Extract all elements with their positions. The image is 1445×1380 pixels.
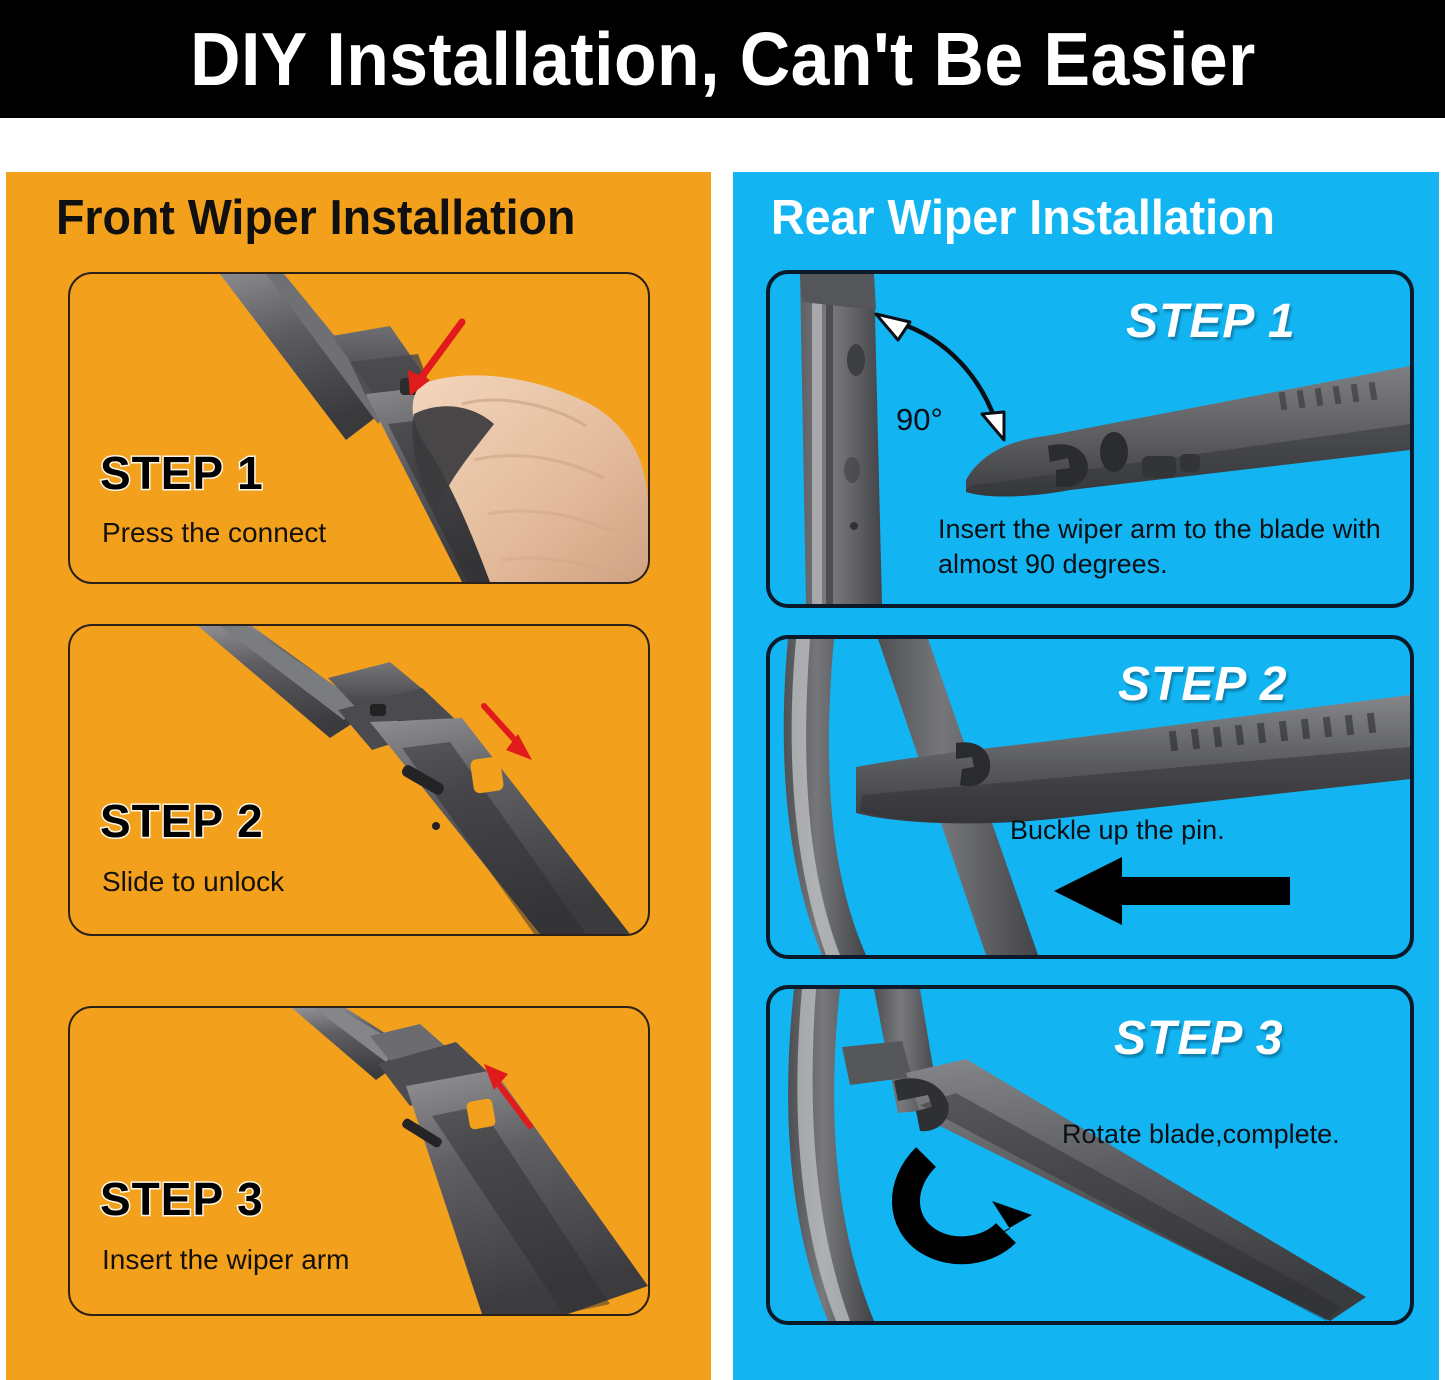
front-step-2-card: STEP 2 Slide to unlock	[68, 624, 650, 936]
black-curved-rotate-arrow-icon	[906, 1157, 1032, 1250]
header-banner: DIY Installation, Can't Be Easier	[0, 0, 1445, 118]
rear-step-3-label: STEP 3	[1114, 1011, 1284, 1066]
black-arrow-left-icon	[1054, 857, 1290, 925]
front-step-1-card: STEP 1 Press the connect	[68, 272, 650, 584]
rear-wiper-panel: Rear Wiper Installation	[733, 172, 1439, 1380]
red-arrow-up-right-icon	[484, 1064, 530, 1126]
front-panel-title: Front Wiper Installation	[56, 194, 575, 243]
rear-step-2-label: STEP 2	[1118, 657, 1288, 712]
panels-container: Front Wiper Installation	[0, 118, 1445, 1380]
red-arrow-down-right-icon	[484, 706, 532, 760]
front-step-2-caption: Slide to unlock	[102, 866, 284, 898]
front-step-1-caption: Press the connect	[102, 517, 326, 549]
rear-step-3-caption: Rotate blade,complete.	[1062, 1117, 1412, 1152]
front-step-2-label: STEP 2	[100, 794, 264, 848]
rear-step-1-caption: Insert the wiper arm to the blade with a…	[938, 512, 1388, 581]
front-step-3-card: STEP 3 Insert the wiper arm	[68, 1006, 650, 1316]
red-arrow-down-left-icon	[408, 322, 462, 396]
page-title: DIY Installation, Can't Be Easier	[190, 22, 1256, 97]
rear-step-2-illustration	[770, 639, 1410, 955]
rear-panel-title: Rear Wiper Installation	[771, 194, 1275, 243]
rear-step-2-card: STEP 2 Buckle up the pin.	[766, 635, 1414, 959]
rear-step-1-card: STEP 1 90° Insert the wiper arm to the b…	[766, 270, 1414, 608]
rear-step-3-card: STEP 3 Rotate blade,complete.	[766, 985, 1414, 1325]
rear-step-1-label: STEP 1	[1126, 294, 1296, 349]
front-step-3-caption: Insert the wiper arm	[102, 1244, 349, 1276]
rear-step-3-illustration	[770, 989, 1410, 1321]
rear-step-2-caption: Buckle up the pin.	[1010, 813, 1390, 848]
front-step-3-label: STEP 3	[100, 1172, 264, 1226]
front-wiper-panel: Front Wiper Installation	[6, 172, 711, 1380]
front-step-1-label: STEP 1	[100, 446, 264, 500]
angle-90-label: 90°	[896, 402, 943, 438]
